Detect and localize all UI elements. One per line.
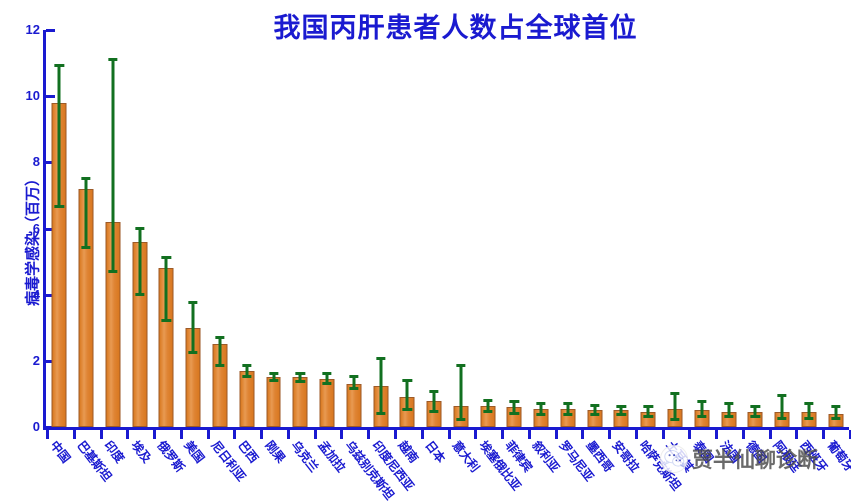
bar-group: [314, 30, 341, 427]
bar-group: [73, 30, 100, 427]
error-bar-cap-upper: [242, 364, 251, 367]
error-bar-cap-upper: [376, 357, 385, 360]
error-bar-cap-upper: [670, 392, 679, 395]
wechat-icon: [660, 445, 688, 473]
error-bar-cap-lower: [82, 246, 91, 249]
bar: [266, 377, 281, 427]
error-bar-stem: [781, 396, 784, 419]
error-bar-cap-lower: [108, 270, 117, 273]
bar-group: [153, 30, 180, 427]
error-bar-cap-upper: [189, 301, 198, 304]
y-axis-tick-label: 10: [0, 89, 40, 102]
bar-group: [715, 30, 742, 427]
error-bar-cap-lower: [296, 380, 305, 383]
error-bar-stem: [138, 229, 141, 295]
error-bar-cap-lower: [804, 417, 813, 420]
bar-group: [421, 30, 448, 427]
bar-group: [394, 30, 421, 427]
error-bar-cap-upper: [55, 64, 64, 67]
x-axis-label: 意大利: [448, 437, 483, 475]
error-bar-cap-upper: [322, 372, 331, 375]
y-axis-tick-label: 2: [0, 354, 40, 367]
error-bar-cap-lower: [269, 379, 278, 382]
bar-group: [662, 30, 689, 427]
error-bar-cap-lower: [189, 351, 198, 354]
bar-group: [340, 30, 367, 427]
error-bar-cap-lower: [322, 382, 331, 385]
bar-group: [769, 30, 796, 427]
error-bar-cap-upper: [82, 177, 91, 180]
error-bar-cap-upper: [135, 227, 144, 230]
error-bar-cap-upper: [403, 379, 412, 382]
error-bar-cap-lower: [831, 417, 840, 420]
bar-group: [742, 30, 769, 427]
error-bar-cap-upper: [429, 390, 438, 393]
bar: [320, 379, 335, 427]
error-bar-stem: [165, 258, 168, 321]
error-bar-cap-lower: [376, 412, 385, 415]
error-bar-cap-lower: [135, 293, 144, 296]
error-bar-cap-lower: [162, 319, 171, 322]
error-bar-cap-upper: [456, 364, 465, 367]
error-bar-cap-lower: [670, 418, 679, 421]
bar-group: [180, 30, 207, 427]
error-bar-cap-lower: [242, 375, 251, 378]
bar-group: [501, 30, 528, 427]
bar-group: [126, 30, 153, 427]
error-bar-cap-lower: [215, 364, 224, 367]
error-bar-stem: [674, 394, 677, 420]
x-axis-label: 葡萄牙: [823, 437, 851, 475]
x-axis-label: 中国: [47, 437, 75, 466]
error-bar-cap-upper: [296, 372, 305, 375]
error-bar-cap-upper: [108, 58, 117, 61]
error-bar-cap-upper: [831, 405, 840, 408]
error-bar-cap-lower: [456, 418, 465, 421]
x-axis-label: 俄罗斯: [154, 437, 189, 475]
error-bar-cap-lower: [777, 417, 786, 420]
error-bar-cap-upper: [349, 375, 358, 378]
bar-group: [233, 30, 260, 427]
chart-container: 我国丙肝患者人数占全球首位 病毒学感染（百万） 024681012 中国巴基斯坦…: [0, 0, 851, 497]
error-bar-cap-upper: [269, 372, 278, 375]
y-axis-tick-label: 4: [0, 288, 40, 301]
error-bar-cap-lower: [537, 413, 546, 416]
bar-group: [367, 30, 394, 427]
bar-group: [635, 30, 662, 427]
error-bar-cap-upper: [590, 404, 599, 407]
error-bar-cap-upper: [617, 405, 626, 408]
bar-group: [100, 30, 127, 427]
y-axis-tick-label: 0: [0, 420, 40, 433]
bar-group: [260, 30, 287, 427]
bar-group: [46, 30, 73, 427]
y-axis-label: 病毒学感染（百万）: [22, 89, 43, 389]
x-axis-label: 安哥拉: [609, 437, 644, 475]
plot-area: [46, 30, 849, 427]
error-bar-stem: [406, 381, 409, 411]
error-bar-cap-lower: [429, 410, 438, 413]
error-bar-cap-lower: [724, 415, 733, 418]
error-bar-cap-upper: [724, 402, 733, 405]
error-bar-stem: [218, 338, 221, 366]
x-axis-label: 埃及: [127, 437, 155, 466]
bar-group: [287, 30, 314, 427]
error-bar-stem: [192, 303, 195, 353]
bar-group: [822, 30, 849, 427]
x-axis-label: 叙利亚: [529, 437, 564, 475]
x-axis-line: [43, 427, 849, 430]
bar: [346, 384, 361, 427]
error-bar-stem: [111, 60, 114, 272]
error-bar-cap-upper: [777, 394, 786, 397]
x-axis-label: 乌克兰: [288, 437, 323, 475]
error-bar-cap-upper: [215, 336, 224, 339]
error-bar-cap-lower: [483, 410, 492, 413]
bar-group: [608, 30, 635, 427]
error-bar-cap-upper: [563, 402, 572, 405]
error-bar-cap-lower: [403, 408, 412, 411]
error-bar-cap-lower: [644, 415, 653, 418]
error-bar-cap-lower: [349, 387, 358, 390]
error-bar-cap-upper: [644, 405, 653, 408]
error-bar-cap-lower: [617, 413, 626, 416]
bar-group: [795, 30, 822, 427]
error-bar-cap-lower: [563, 413, 572, 416]
bar-group: [555, 30, 582, 427]
error-bar-cap-lower: [55, 205, 64, 208]
bar: [239, 371, 254, 427]
y-axis-tick-label: 8: [0, 155, 40, 168]
x-axis-label: 刚果: [261, 437, 289, 466]
error-bar-cap-lower: [510, 412, 519, 415]
y-axis-tick-label: 6: [0, 222, 40, 235]
y-axis-tick-label: 12: [0, 23, 40, 36]
watermark: 贾半仙聊诊断: [660, 444, 818, 474]
error-bar-stem: [459, 366, 462, 421]
bar-group: [688, 30, 715, 427]
error-bar-stem: [58, 66, 61, 207]
error-bar-cap-lower: [590, 413, 599, 416]
bar-group: [528, 30, 555, 427]
error-bar-cap-upper: [510, 400, 519, 403]
error-bar-cap-upper: [697, 400, 706, 403]
bar: [293, 377, 308, 427]
error-bar-cap-lower: [697, 415, 706, 418]
x-axis-label: 日本: [422, 437, 450, 466]
error-bar-cap-upper: [804, 402, 813, 405]
error-bar-cap-upper: [483, 399, 492, 402]
error-bar-stem: [379, 359, 382, 414]
error-bar-cap-lower: [751, 415, 760, 418]
error-bar-cap-upper: [751, 405, 760, 408]
error-bar-cap-upper: [537, 402, 546, 405]
error-bar-stem: [85, 179, 88, 248]
watermark-text: 贾半仙聊诊断: [692, 444, 818, 474]
bar-group: [474, 30, 501, 427]
x-axis-label: 孟加拉: [315, 437, 350, 475]
bar-group: [207, 30, 234, 427]
error-bar-cap-upper: [162, 256, 171, 259]
bar-group: [581, 30, 608, 427]
bar-group: [448, 30, 475, 427]
